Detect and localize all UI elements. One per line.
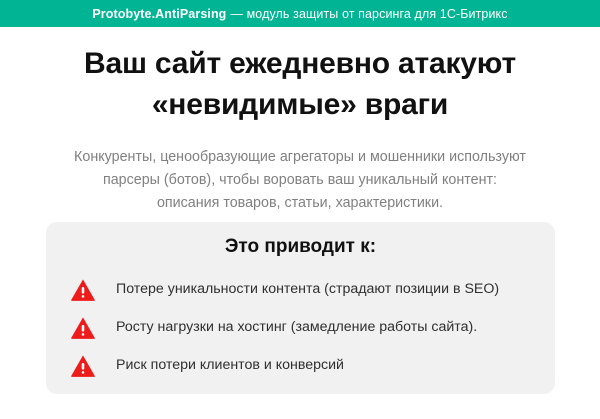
brand-name: Protobyte.AntiParsing	[92, 7, 226, 21]
page-title-line-1: Ваш сайт ежедневно атакуют	[30, 43, 570, 84]
consequences-list: Потере уникальности контента (страдают п…	[46, 271, 555, 385]
list-item-label: Риск потери клиентов и конверсий	[116, 357, 344, 374]
brand-header-bar: Protobyte.AntiParsing — модуль защиты от…	[0, 0, 600, 27]
intro-paragraph: Конкуренты, ценообразующие агрегаторы и …	[0, 146, 600, 215]
list-item-label: Росту нагрузки на хостинг (замедление ра…	[116, 319, 477, 336]
consequences-card-title: Это приводит к:	[46, 236, 555, 258]
brand-tagline: — модуль защиты от парсинга для 1С-Битри…	[230, 7, 507, 21]
warning-triangle-icon	[70, 315, 96, 341]
intro-line-2: парсеры (ботов), чтобы воровать ваш уник…	[42, 169, 558, 192]
list-item: Росту нагрузки на хостинг (замедление ра…	[70, 309, 555, 347]
warning-triangle-icon	[70, 353, 96, 379]
consequences-card: Это приводит к: Потере уникальности конт…	[46, 222, 555, 394]
warning-triangle-icon	[70, 277, 96, 303]
page-title: Ваш сайт ежедневно атакуют «невидимые» в…	[0, 43, 600, 126]
page-title-line-2: «невидимые» враги	[30, 84, 570, 125]
list-item-label: Потере уникальности контента (страдают п…	[116, 281, 499, 298]
list-item: Потере уникальности контента (страдают п…	[70, 271, 555, 309]
list-item: Риск потери клиентов и конверсий	[70, 347, 555, 385]
intro-line-1: Конкуренты, ценообразующие агрегаторы и …	[42, 146, 558, 169]
intro-line-3: описания товаров, статьи, характеристики…	[42, 192, 558, 215]
